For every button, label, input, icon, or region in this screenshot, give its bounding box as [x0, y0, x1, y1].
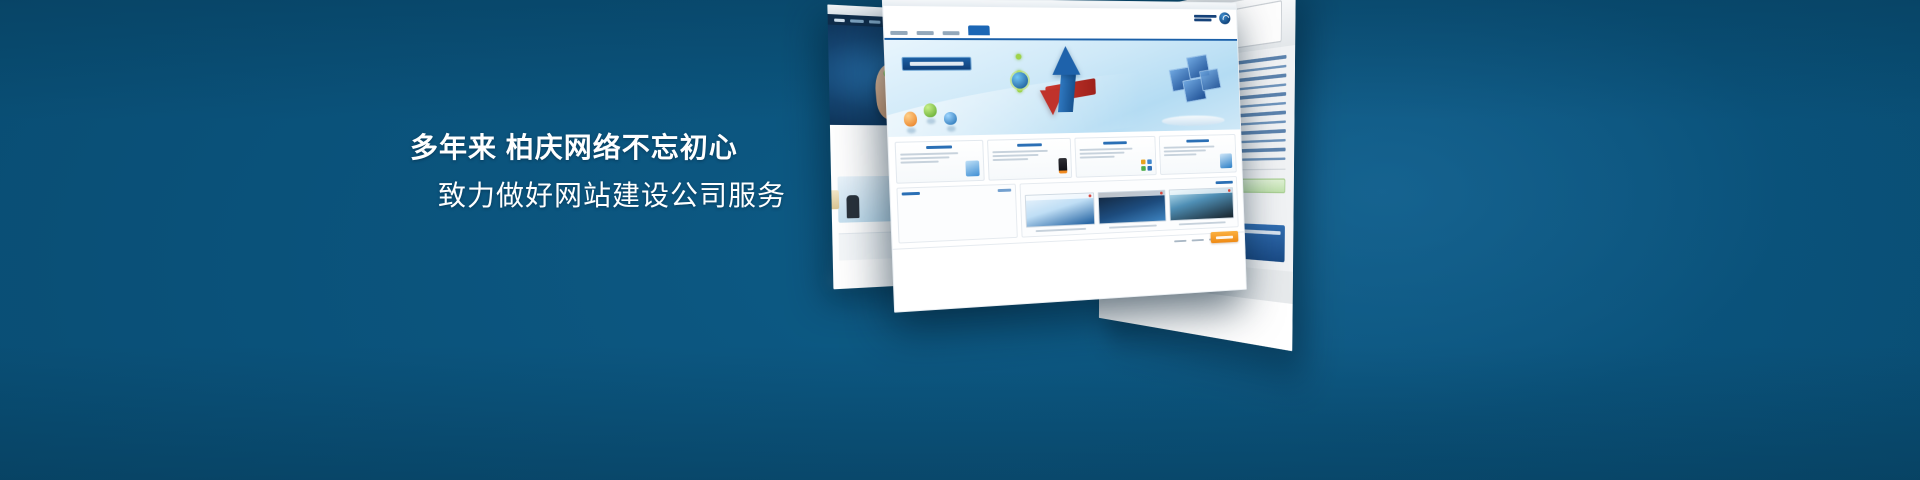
orange-orb-icon	[904, 112, 918, 127]
hero-orb-group	[903, 103, 957, 129]
work-screenshot	[1168, 187, 1234, 221]
feature-card[interactable]	[1074, 136, 1156, 178]
hero-label-badge	[901, 57, 971, 71]
hero-base-glow	[1162, 115, 1225, 126]
nav-item-about[interactable]	[917, 31, 934, 35]
globe-icon	[1012, 72, 1029, 89]
headline-line-2: 致力做好网站建设公司服务	[438, 176, 930, 216]
grid-icon	[1140, 159, 1151, 171]
nav-item-services[interactable]	[943, 31, 960, 35]
blue-orb-icon	[944, 112, 957, 125]
site-logo[interactable]	[1194, 12, 1231, 24]
main-nav	[890, 25, 990, 35]
logo-wordmark	[1194, 15, 1217, 22]
work-caption	[1109, 225, 1157, 229]
works-thumb-row	[1025, 187, 1235, 232]
footer-link[interactable]	[1192, 239, 1204, 241]
blue-arrow-up-icon	[1051, 46, 1080, 75]
work-thumb[interactable]	[1025, 192, 1096, 232]
work-thumb[interactable]	[1168, 187, 1234, 226]
document-icon	[965, 160, 979, 176]
work-screenshot	[1025, 192, 1096, 227]
swirl-logo-icon	[1219, 12, 1231, 24]
tablet-icon	[1220, 153, 1233, 168]
blue-arrow-stem	[1058, 72, 1076, 112]
center-header	[883, 6, 1237, 41]
blue-cubes-graphic	[1167, 53, 1224, 109]
feature-card[interactable]	[987, 138, 1073, 181]
feature-card[interactable]	[1158, 134, 1236, 175]
works-more-link[interactable]	[1216, 181, 1233, 184]
work-caption	[1036, 228, 1086, 232]
work-caption	[1179, 221, 1226, 225]
online-consult-button[interactable]	[1211, 231, 1239, 243]
nav-item-cases-active[interactable]	[968, 25, 990, 35]
headline-block: 多年来 柏庆网络不忘初心 致力做好网站建设公司服务	[410, 128, 930, 216]
hero-banner-image	[884, 40, 1240, 137]
works-panel	[1019, 176, 1238, 238]
work-screenshot	[1098, 190, 1166, 225]
work-thumb[interactable]	[1098, 190, 1166, 229]
footer-link[interactable]	[1174, 240, 1186, 242]
headline-line-1: 多年来 柏庆网络不忘初心	[410, 128, 930, 168]
center-website-panel[interactable]	[882, 0, 1247, 313]
news-more-link[interactable]	[997, 189, 1011, 192]
green-dot-icon	[1016, 54, 1022, 60]
left-nav-item[interactable]	[834, 18, 845, 22]
left-nav-item[interactable]	[850, 19, 864, 23]
left-nav-item[interactable]	[869, 20, 880, 24]
green-orb-icon	[923, 103, 937, 117]
nav-item-home[interactable]	[890, 31, 907, 35]
phone-icon	[1058, 158, 1067, 174]
hero-banner: 多年来 柏庆网络不忘初心 致力做好网站建设公司服务	[0, 0, 1920, 480]
